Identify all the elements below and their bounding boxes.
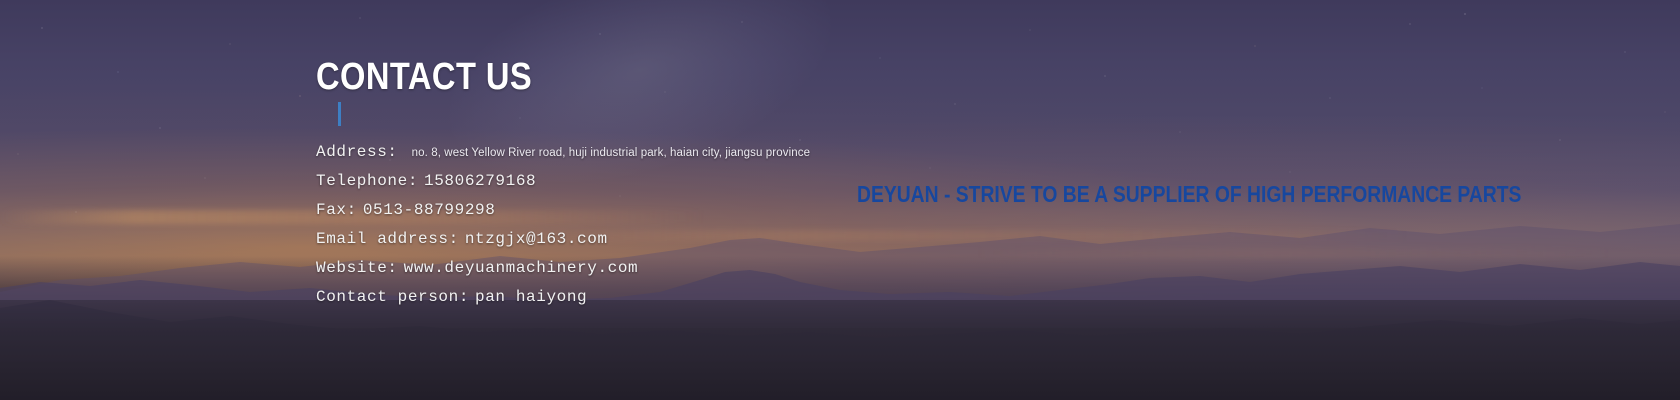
contact-value-telephone[interactable]: 15806279168 [424,172,536,190]
banner-content: CONTACT US Address: no. 8, west Yellow R… [0,0,1680,400]
contact-value-website[interactable]: www.deyuanmachinery.com [404,259,639,277]
contact-label-telephone: Telephone: [316,172,418,190]
contact-label-address: Address: [316,143,398,161]
company-slogan: DEYUAN - STRIVE TO BE A SUPPLIER OF HIGH… [857,183,1521,206]
contact-row-email: Email address: ntzgjx@163.com [316,230,1076,259]
contact-row-website: Website: www.deyuanmachinery.com [316,259,1076,288]
page-title: CONTACT US [316,58,532,96]
contact-details-list: Address: no. 8, west Yellow River road, … [316,143,1076,317]
contact-value-fax: 0513-88799298 [363,201,496,219]
contact-row-contact-person: Contact person: pan haiyong [316,288,1076,317]
contact-label-email: Email address: [316,230,459,248]
contact-value-contact-person: pan haiyong [475,288,587,306]
contact-label-website: Website: [316,259,398,277]
contact-us-banner: CONTACT US Address: no. 8, west Yellow R… [0,0,1680,400]
contact-label-contact-person: Contact person: [316,288,469,306]
contact-label-fax: Fax: [316,201,357,219]
contact-value-email[interactable]: ntzgjx@163.com [465,230,608,248]
contact-row-address: Address: no. 8, west Yellow River road, … [316,143,1076,172]
title-accent-bar [338,102,341,126]
contact-value-address: no. 8, west Yellow River road, huji indu… [412,147,810,159]
